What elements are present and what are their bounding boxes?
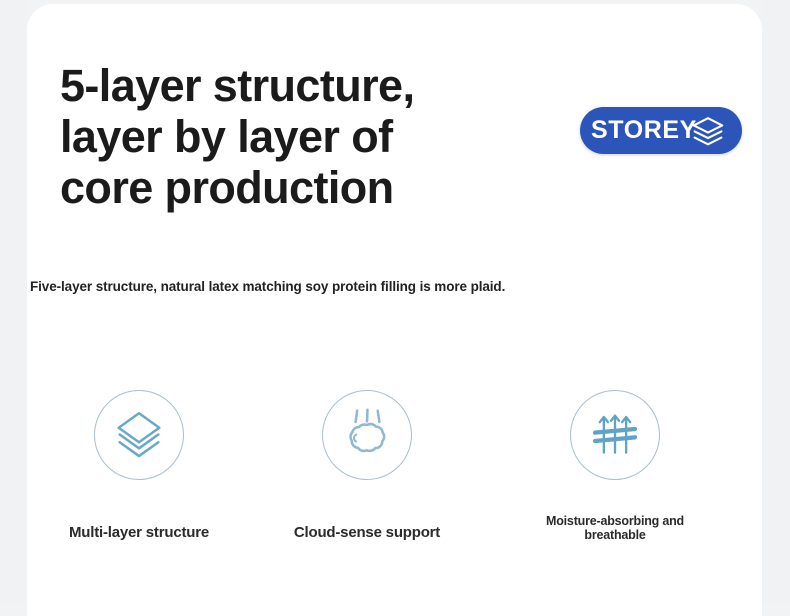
brand-name: STOREY [591,118,697,143]
cloud-support-icon [338,407,396,463]
page-gutter-left [0,0,27,603]
feature-label: Multi-layer structure [39,480,239,542]
feature-label: Moisture-absorbing and breathable [515,480,715,543]
feature-item-multi-layer-structure: Multi-layer structure [39,390,239,542]
subtitle-text: Five-layer structure, natural latex matc… [30,279,750,294]
feature-list: Multi-layer structure [27,390,762,570]
brand-logo-badge: STOREY [580,107,742,154]
product-detail-page: 5-layer structure, layer by layer of cor… [0,0,790,603]
page-gutter-right [762,0,790,603]
feature-card: 5-layer structure, layer by layer of cor… [27,4,762,616]
feature-item-cloud-sense-support: Cloud-sense support [267,390,467,542]
hero-section: 5-layer structure, layer by layer of cor… [27,4,762,246]
layers-stack-icon [690,115,726,149]
feature-item-moisture-absorbing-breathable: Moisture-absorbing and breathable [515,390,715,543]
feature-icon-circle [94,390,184,480]
page-title: 5-layer structure, layer by layer of cor… [60,61,530,214]
feature-icon-circle [322,390,412,480]
feature-label: Cloud-sense support [267,480,467,542]
airflow-breathable-icon [588,409,642,461]
feature-icon-circle [570,390,660,480]
layers-stack-icon [110,407,168,463]
